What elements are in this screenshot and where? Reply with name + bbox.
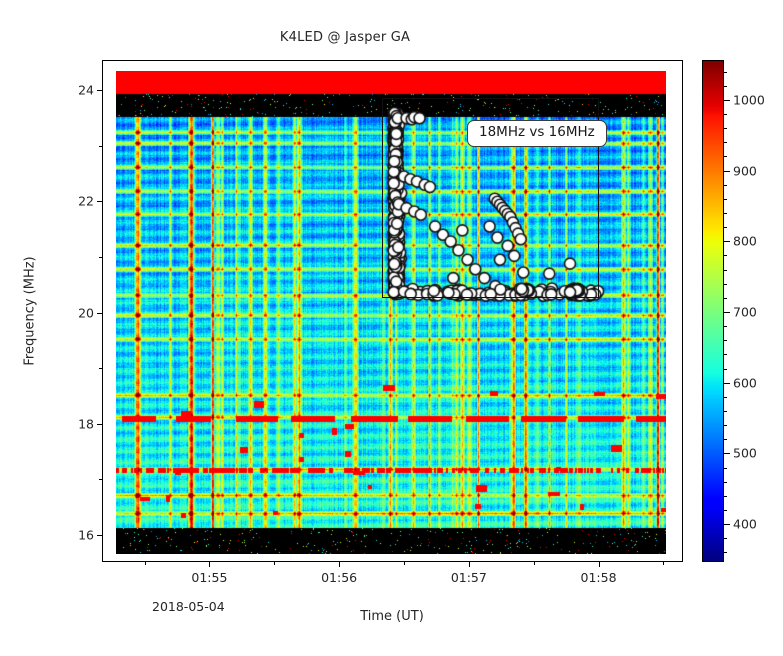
colorbar-minor-tick <box>723 369 727 370</box>
colorbar-minor-tick <box>723 86 727 87</box>
colorbar-minor-tick <box>723 227 727 228</box>
y-axis-minor-tick <box>99 479 103 480</box>
colorbar-minor-tick <box>723 114 727 115</box>
colorbar: 1000900800700600500400 <box>702 60 724 562</box>
annotation-label: 18MHz vs 16MHz <box>467 120 607 147</box>
x-axis-minor-tick <box>274 561 275 565</box>
colorbar-minor-tick <box>723 482 727 483</box>
x-axis-tick <box>599 561 600 567</box>
colorbar-minor-tick <box>723 326 727 327</box>
colorbar-minor-tick <box>723 354 727 355</box>
colorbar-tick-label: 600 <box>733 375 757 390</box>
colorbar-tick <box>723 453 730 454</box>
colorbar-minor-tick <box>723 72 727 73</box>
spectrogram-axes: 18MHz vs 16MHz 242220181601:5501:5601:57… <box>102 60 683 562</box>
colorbar-tick-label: 500 <box>733 446 757 461</box>
x-axis-minor-tick <box>404 561 405 565</box>
figure-canvas: K4LED @ Jasper GA Frequency (MHz) Time (… <box>0 0 783 656</box>
colorbar-minor-tick <box>723 298 727 299</box>
y-axis-tick <box>97 90 103 91</box>
y-axis-minor-tick <box>99 257 103 258</box>
colorbar-tick-label: 900 <box>733 163 757 178</box>
colorbar-tick-label: 800 <box>733 234 757 249</box>
colorbar-minor-tick <box>723 156 727 157</box>
colorbar-tick-label: 1000 <box>733 92 765 107</box>
y-axis-tick-label: 24 <box>78 83 94 98</box>
y-axis-tick-label: 20 <box>78 305 94 320</box>
y-axis-tick-label: 22 <box>78 194 94 209</box>
colorbar-minor-tick <box>723 185 727 186</box>
colorbar-minor-tick <box>723 142 727 143</box>
colorbar-tick-label: 700 <box>733 305 757 320</box>
x-axis-tick <box>209 561 210 567</box>
colorbar-minor-tick <box>723 284 727 285</box>
colorbar-minor-tick <box>723 425 727 426</box>
x-axis-minor-tick <box>663 561 664 565</box>
colorbar-minor-tick <box>723 468 727 469</box>
x-axis-tick <box>469 561 470 567</box>
y-axis-tick <box>97 201 103 202</box>
colorbar-minor-tick <box>723 510 727 511</box>
colorbar-minor-tick <box>723 213 727 214</box>
date-label: 2018-05-04 <box>152 599 225 614</box>
x-axis-tick-label: 01:58 <box>581 570 617 585</box>
colorbar-minor-tick <box>723 340 727 341</box>
colorbar-minor-tick <box>723 439 727 440</box>
colorbar-minor-tick <box>723 538 727 539</box>
chart-title: K4LED @ Jasper GA <box>0 30 690 45</box>
x-axis-tick-label: 01:57 <box>451 570 487 585</box>
colorbar-tick <box>723 524 730 525</box>
colorbar-tick <box>723 312 730 313</box>
y-axis-tick <box>97 535 103 536</box>
colorbar-minor-tick <box>723 397 727 398</box>
y-axis-minor-tick <box>99 146 103 147</box>
colorbar-tick <box>723 171 730 172</box>
x-axis-tick-label: 01:55 <box>191 570 227 585</box>
y-axis-tick <box>97 313 103 314</box>
colorbar-minor-tick <box>723 552 727 553</box>
y-axis-tick-label: 18 <box>78 416 94 431</box>
colorbar-tick <box>723 100 730 101</box>
colorbar-tick <box>723 241 730 242</box>
y-axis-tick <box>97 424 103 425</box>
colorbar-minor-tick <box>723 496 727 497</box>
colorbar-minor-tick <box>723 255 727 256</box>
y-axis-tick-label: 16 <box>78 527 94 542</box>
colorbar-minor-tick <box>723 128 727 129</box>
x-axis-tick-label: 01:56 <box>321 570 357 585</box>
colorbar-tick-label: 400 <box>733 517 757 532</box>
y-axis-title: Frequency (MHz) <box>23 256 38 365</box>
x-axis-title: Time (UT) <box>360 609 424 624</box>
x-axis-minor-tick <box>145 561 146 565</box>
colorbar-tick <box>723 383 730 384</box>
colorbar-minor-tick <box>723 411 727 412</box>
colorbar-minor-tick <box>723 270 727 271</box>
colorbar-minor-tick <box>723 199 727 200</box>
y-axis-minor-tick <box>99 368 103 369</box>
x-axis-tick <box>339 561 340 567</box>
x-axis-minor-tick <box>534 561 535 565</box>
